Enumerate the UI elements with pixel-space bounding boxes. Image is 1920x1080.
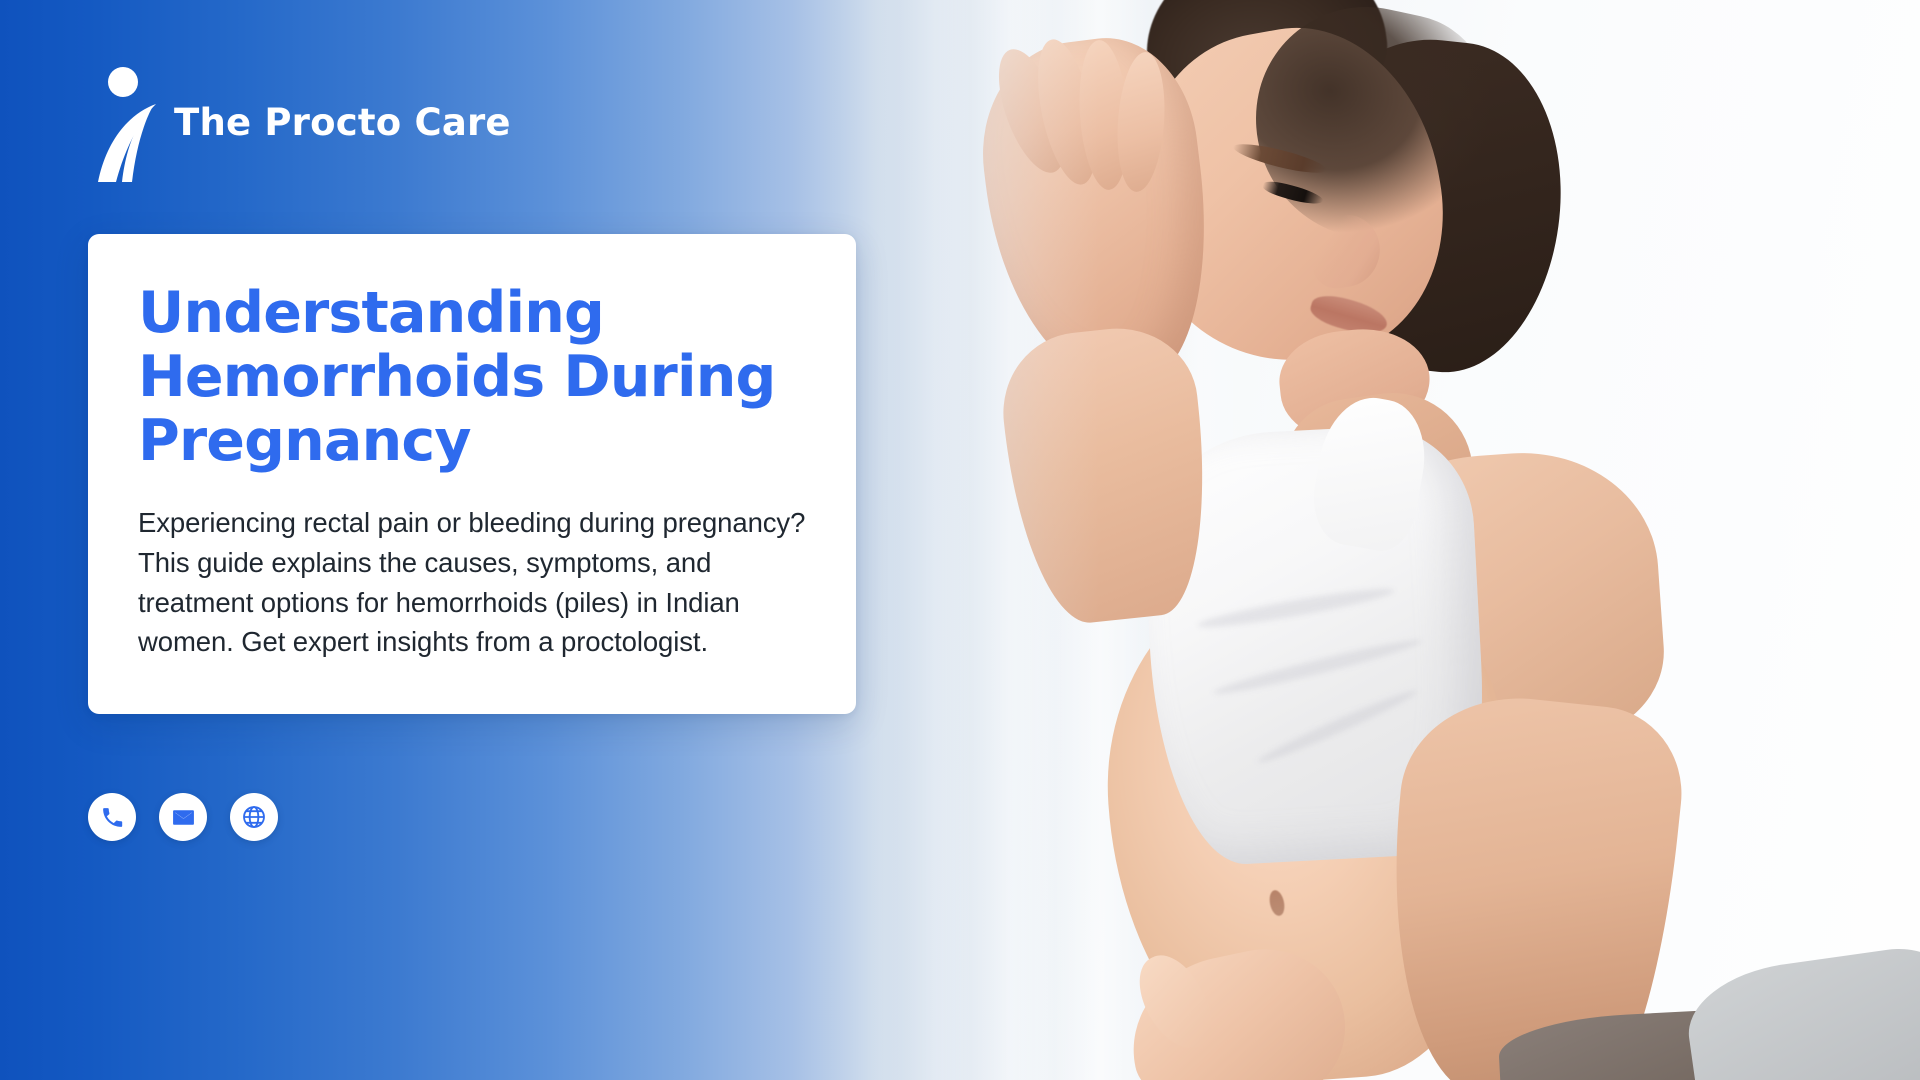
content-card: Understanding Hemorrhoids During Pregnan… [88,234,856,714]
globe-icon [241,804,267,830]
phone-button[interactable] [88,793,136,841]
brand-name: The Procto Care [174,101,511,144]
contact-icon-row [88,793,278,841]
mail-icon [171,805,196,830]
promotional-banner: The Procto Care Understanding Hemorrhoid… [0,0,1920,1080]
procto-care-figure-mark-icon [96,62,158,182]
lower-garment-highlight [1681,943,1920,1080]
brand-logo[interactable]: The Procto Care [96,62,511,182]
website-button[interactable] [230,793,278,841]
page-description: Experiencing rectal pain or bleeding dur… [138,503,806,661]
phone-icon [100,805,125,830]
page-title: Understanding Hemorrhoids During Pregnan… [138,282,806,473]
email-button[interactable] [159,793,207,841]
